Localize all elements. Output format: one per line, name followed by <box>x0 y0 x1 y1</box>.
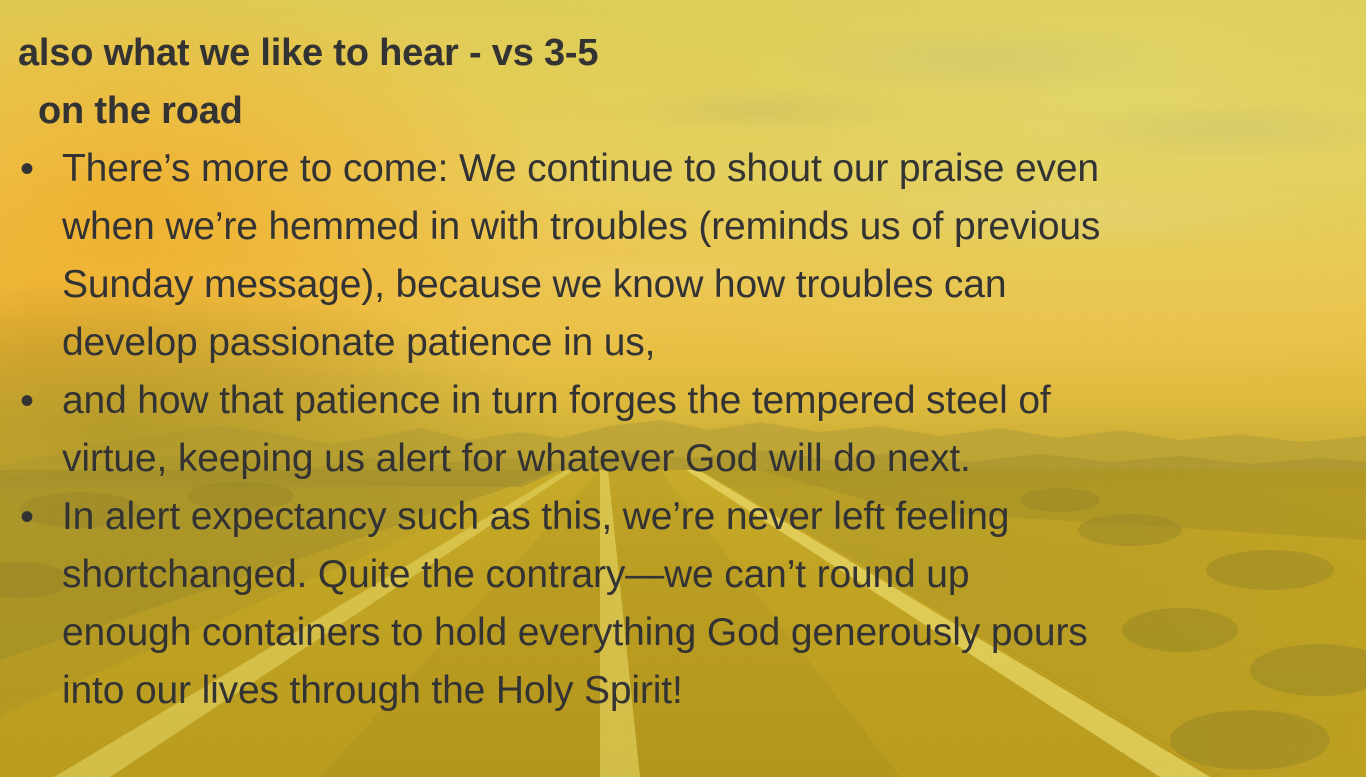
bullet-text-2: and how that patience in turn forges the… <box>62 372 1360 488</box>
presentation-slide: also what we like to hear - vs 3-5 on th… <box>0 0 1366 777</box>
bullet-marker-icon: • <box>14 372 62 430</box>
bullet-item-3: • In alert expectancy such as this, we’r… <box>14 488 1360 720</box>
bullet-1-line-1: There’s more to come: We continue to sho… <box>62 140 1360 198</box>
bullet-marker-icon: • <box>14 488 62 546</box>
bullet-3-line-4: into our lives through the Holy Spirit! <box>62 662 1360 720</box>
bullet-2-line-1: and how that patience in turn forges the… <box>62 372 1360 430</box>
bullet-3-line-3: enough containers to hold everything God… <box>62 604 1360 662</box>
bullet-item-1: • There’s more to come: We continue to s… <box>14 140 1360 372</box>
slide-bullet-list: • There’s more to come: We continue to s… <box>14 140 1360 720</box>
slide-content: also what we like to hear - vs 3-5 on th… <box>0 0 1366 777</box>
bullet-1-line-3: Sunday message), because we know how tro… <box>62 256 1360 314</box>
bullet-2-line-2: virtue, keeping us alert for whatever Go… <box>62 430 1360 488</box>
bullet-3-line-1: In alert expectancy such as this, we’re … <box>62 488 1360 546</box>
slide-title-line-2: on the road <box>18 82 1338 140</box>
bullet-1-line-4: develop passionate patience in us, <box>62 314 1360 372</box>
bullet-text-1: There’s more to come: We continue to sho… <box>62 140 1360 372</box>
bullet-3-line-2: shortchanged. Quite the contrary—we can’… <box>62 546 1360 604</box>
bullet-text-3: In alert expectancy such as this, we’re … <box>62 488 1360 720</box>
bullet-1-line-2: when we’re hemmed in with troubles (remi… <box>62 198 1360 256</box>
bullet-item-2: • and how that patience in turn forges t… <box>14 372 1360 488</box>
slide-title-line-1: also what we like to hear - vs 3-5 <box>18 24 1338 82</box>
slide-title: also what we like to hear - vs 3-5 on th… <box>18 24 1338 140</box>
bullet-marker-icon: • <box>14 140 62 198</box>
